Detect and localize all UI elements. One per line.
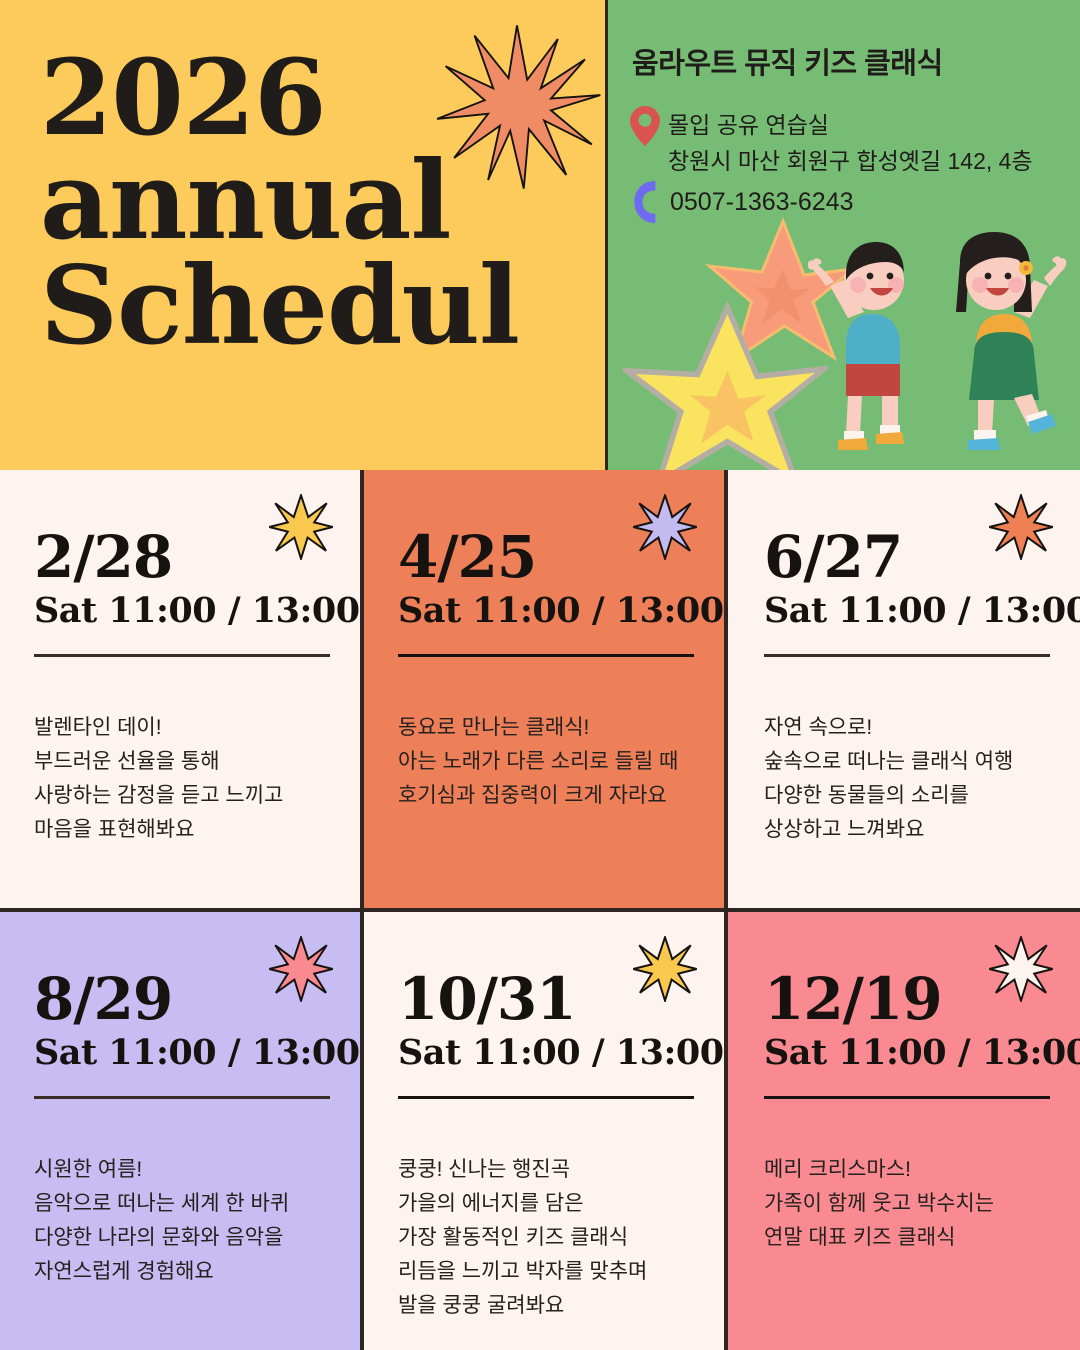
title-line-3: Schedul xyxy=(40,254,580,359)
location-pin-icon xyxy=(630,106,660,146)
divider xyxy=(34,654,330,657)
card-description: 시원한 여름! 음악으로 떠나는 세계 한 바퀴 다양한 나라의 문화와 음악을… xyxy=(34,1153,330,1289)
card-time: Sat 11:00 / 13:00 xyxy=(398,590,694,632)
divider xyxy=(34,1096,330,1099)
schedule-card[interactable]: 8/29 Sat 11:00 / 13:00 시원한 여름! 음악으로 떠나는 … xyxy=(0,912,360,1350)
poster: 2026 annual Schedul 움라우트 뮤직 키즈 클래식 몰입 공유… xyxy=(0,0,1080,1350)
card-time: Sat 11:00 / 13:00 xyxy=(34,590,330,632)
schedule-card[interactable]: 4/25 Sat 11:00 / 13:00 동요로 만나는 클래식! 아는 노… xyxy=(364,470,724,908)
kids-illustration xyxy=(808,228,1068,458)
card-date: 6/27 xyxy=(764,528,1050,586)
schedule-card[interactable]: 10/31 Sat 11:00 / 13:00 쿵쿵! 신나는 행진곡 가을의 … xyxy=(364,912,724,1350)
divider xyxy=(764,654,1050,657)
boy-figure xyxy=(810,242,904,450)
venue-name: 몰입 공유 연습실 xyxy=(668,106,829,140)
divider xyxy=(398,654,694,657)
girl-figure xyxy=(956,232,1066,450)
card-description: 메리 크리스마스! 가족이 함께 웃고 박수치는 연말 대표 키즈 클래식 xyxy=(764,1153,1050,1255)
schedule-card[interactable]: 6/27 Sat 11:00 / 13:00 자연 속으로! 숲속으로 떠나는 … xyxy=(728,470,1080,908)
card-date: 10/31 xyxy=(398,970,694,1028)
card-description: 쿵쿵! 신나는 행진곡 가을의 에너지를 담은 가장 활동적인 키즈 클래식 리… xyxy=(398,1153,694,1323)
card-date: 8/29 xyxy=(34,970,330,1028)
schedule-grid: 2/28 Sat 11:00 / 13:00 발렌타인 데이! 부드러운 선율을… xyxy=(0,470,1080,1350)
schedule-card[interactable]: 12/19 Sat 11:00 / 13:00 메리 크리스마스! 가족이 함께… xyxy=(728,912,1080,1350)
card-time: Sat 11:00 / 13:00 xyxy=(764,590,1050,632)
starburst-icon xyxy=(432,12,602,202)
card-time: Sat 11:00 / 13:00 xyxy=(398,1032,694,1074)
divider xyxy=(398,1096,694,1099)
poster-header: 2026 annual Schedul 움라우트 뮤직 키즈 클래식 몰입 공유… xyxy=(0,0,1080,470)
card-time: Sat 11:00 / 13:00 xyxy=(34,1032,330,1074)
card-description: 발렌타인 데이! 부드러운 선율을 통해 사랑하는 감정을 듣고 느끼고 마음을… xyxy=(34,711,330,847)
schedule-card[interactable]: 2/28 Sat 11:00 / 13:00 발렌타인 데이! 부드러운 선율을… xyxy=(0,470,360,908)
phone-number: 0507-1363-6243 xyxy=(670,188,854,217)
star-icon-yellow xyxy=(623,300,828,470)
header-title-panel: 2026 annual Schedul xyxy=(0,0,605,470)
venue-address: 창원시 마산 회원구 합성옛길 142, 4층 xyxy=(668,142,1033,176)
brand-title: 움라우트 뮤직 키즈 클래식 xyxy=(632,40,1072,82)
card-date: 12/19 xyxy=(764,970,1050,1028)
phone-icon xyxy=(632,178,660,226)
card-description: 자연 속으로! 숲속으로 떠나는 클래식 여행 다양한 동물들의 소리를 상상하… xyxy=(764,711,1050,847)
card-description: 동요로 만나는 클래식! 아는 노래가 다른 소리로 들릴 때 호기심과 집중력… xyxy=(398,711,694,813)
card-time: Sat 11:00 / 13:00 xyxy=(764,1032,1050,1074)
card-date: 2/28 xyxy=(34,528,330,586)
card-date: 4/25 xyxy=(398,528,694,586)
header-info-panel: 움라우트 뮤직 키즈 클래식 몰입 공유 연습실 창원시 마산 회원구 합성옛길… xyxy=(608,0,1080,470)
divider xyxy=(764,1096,1050,1099)
